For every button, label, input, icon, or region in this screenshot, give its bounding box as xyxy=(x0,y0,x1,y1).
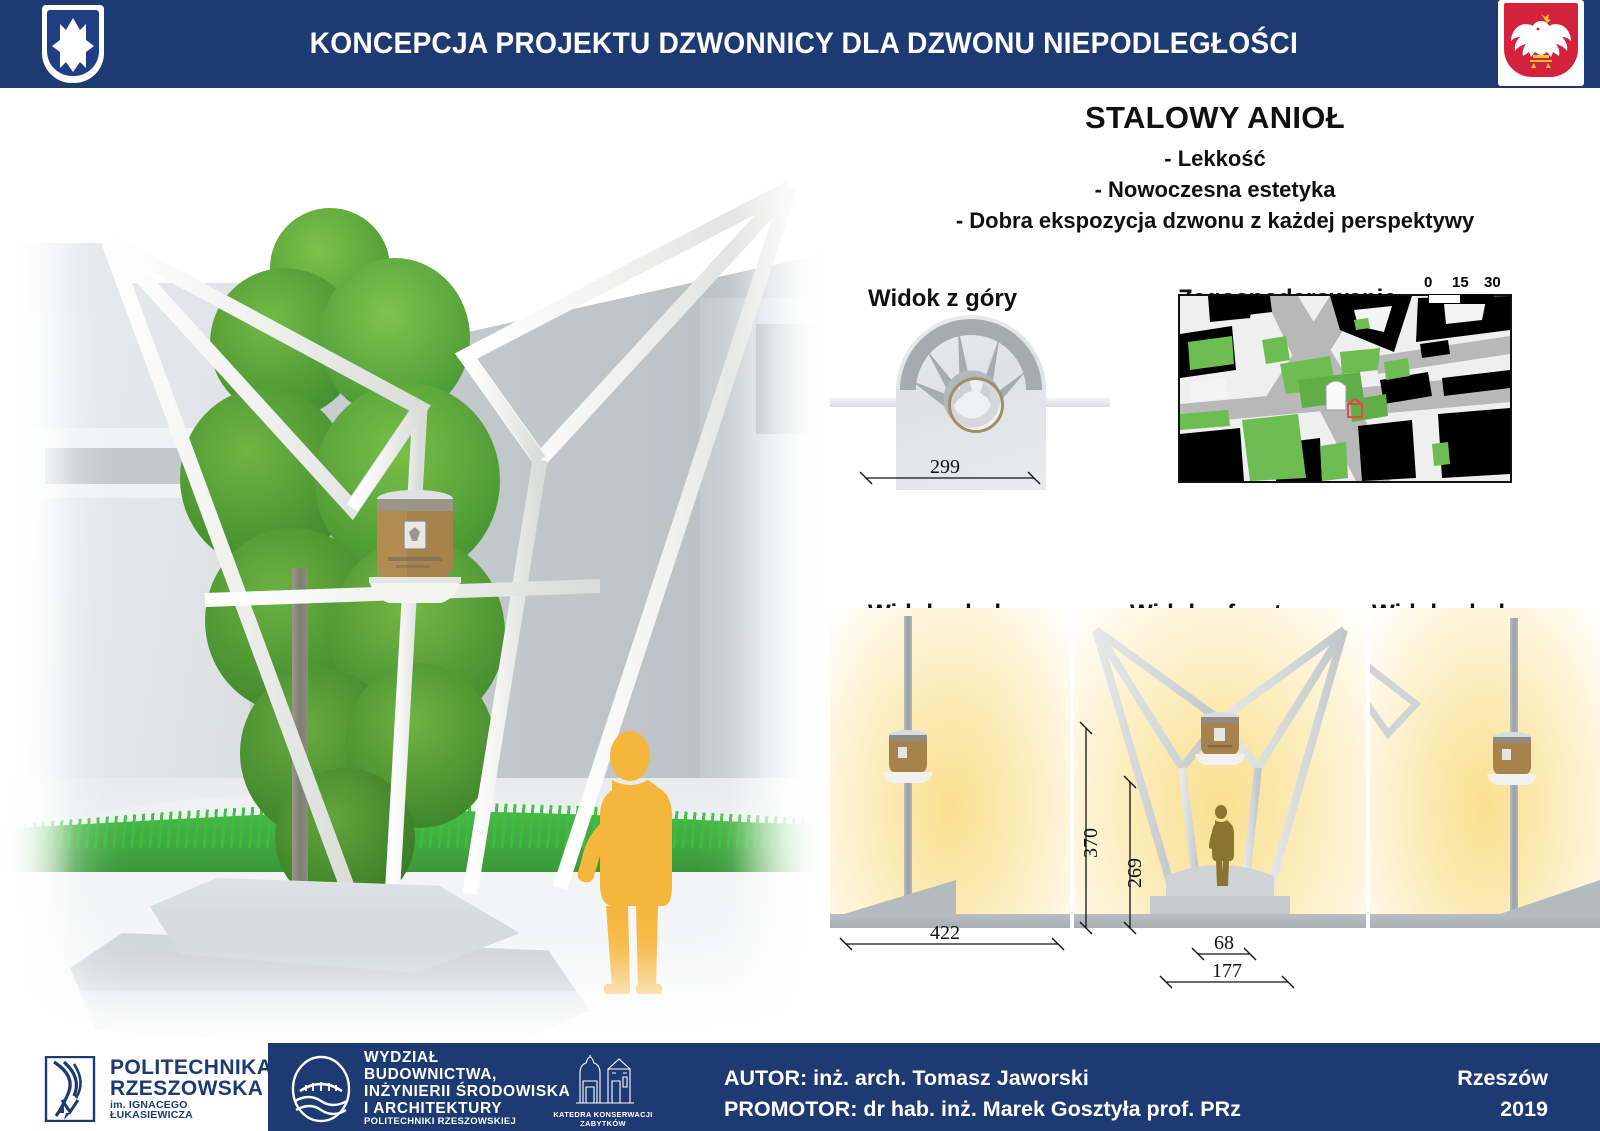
page-header: KONCEPCJA PROJEKTU DZWONNICY DLA DZWONU … xyxy=(0,0,1600,88)
city-text: Rzeszów xyxy=(1457,1063,1548,1094)
faculty-line-3: INŻYNIERII ŚRODOWISKA xyxy=(364,1084,570,1101)
department-line-1: KATEDRA KONSERWACJI xyxy=(548,1110,658,1119)
eagle-glyph-icon xyxy=(1504,3,1578,77)
scale-tick-0: 0 xyxy=(1424,274,1432,291)
main-3d-render xyxy=(0,88,830,1040)
concept-title: STALOWY ANIOŁ xyxy=(830,100,1600,136)
university-line-2: RZESZOWSKA xyxy=(110,1078,272,1099)
poster-body: STALOWY ANIOŁ - Lekkość - Nowoczesna est… xyxy=(0,88,1600,1043)
rzeszow-crest-icon xyxy=(42,3,104,85)
top-view-drawing xyxy=(870,293,1070,493)
university-logo: POLITECHNIKA RZESZOWSKA im. IGNACEGO ŁUK… xyxy=(44,1053,264,1125)
top-view-bell-ring xyxy=(948,377,1004,433)
faculty-emblem-icon xyxy=(290,1055,352,1123)
credits-block: AUTOR: inż. arch. Tomasz Jaworski PROMOT… xyxy=(724,1063,1241,1125)
dim-side-base-width: 422 xyxy=(930,922,960,945)
bell-side-left xyxy=(878,728,938,784)
year-text: 2019 xyxy=(1457,1094,1548,1125)
university-line-3: im. IGNACEGO ŁUKASIEWICZA xyxy=(110,1100,272,1121)
side-view-left-drawing xyxy=(830,608,1070,928)
faculty-line-1: WYDZIAŁ xyxy=(364,1050,570,1067)
dim-top-view-width: 299 xyxy=(930,456,960,479)
ground-line xyxy=(1370,914,1600,928)
cross-glyph-icon xyxy=(47,10,99,76)
department-logo: KATEDRA KONSERWACJI ZABYTKÓW xyxy=(548,1055,658,1125)
scale-figure-front xyxy=(1206,804,1236,888)
dim-plinth-width: 177 xyxy=(1212,960,1242,983)
scale-tick-30: 30 xyxy=(1484,274,1501,291)
independence-bell xyxy=(352,483,478,613)
bullet-item: - Lekkość xyxy=(830,143,1600,174)
page-footer: POLITECHNIKA RZESZOWSKA im. IGNACEGO ŁUK… xyxy=(0,1043,1600,1131)
base-ramp xyxy=(844,880,956,914)
bell-side-right xyxy=(1482,730,1542,786)
map-scale-bar: 0 15 30 xyxy=(1428,294,1508,304)
bell-front xyxy=(1190,710,1250,766)
dim-column-spacing: 68 xyxy=(1214,932,1234,955)
faculty-line-4: I ARCHITEKTURY xyxy=(364,1101,570,1118)
faculty-logo: WYDZIAŁ BUDOWNICTWA, INŻYNIERII ŚRODOWIS… xyxy=(290,1051,570,1127)
page-title: KONCEPCJA PROJEKTU DZWONNICY DLA DZWONU … xyxy=(146,27,1456,61)
scale-figure-person xyxy=(560,728,690,998)
side-view-right-drawing xyxy=(1370,608,1600,928)
author-text: AUTOR: inż. arch. Tomasz Jaworski xyxy=(724,1063,1241,1094)
front-view-drawing xyxy=(1074,608,1366,928)
department-line-2: ZABYTKÓW xyxy=(548,1119,658,1128)
university-line-1: POLITECHNIKA xyxy=(110,1057,272,1078)
prz-monogram-icon xyxy=(44,1056,100,1122)
faculty-line-2: BUDOWNICTWA, xyxy=(364,1067,570,1084)
ground-line xyxy=(1074,914,1366,928)
right-panel: STALOWY ANIOŁ - Lekkość - Nowoczesna est… xyxy=(830,88,1600,1040)
supervisor-text: PROMOTOR: dr hab. inż. Marek Gosztyła pr… xyxy=(724,1094,1241,1125)
concept-bullets: - Lekkość - Nowoczesna estetyka - Dobra … xyxy=(830,143,1600,236)
heritage-buildings-icon xyxy=(550,1055,656,1105)
bullet-item: - Nowoczesna estetyka xyxy=(830,174,1600,205)
poland-eagle-crest-icon xyxy=(1498,0,1584,88)
place-year-block: Rzeszów 2019 xyxy=(1457,1063,1548,1125)
dim-bell-height: 269 xyxy=(1124,858,1147,888)
site-plan-map xyxy=(1178,294,1512,483)
faculty-sub: POLITECHNIKI RZESZOWSKIEJ xyxy=(364,1117,570,1127)
map-graphic xyxy=(1180,296,1510,481)
dim-total-height: 370 xyxy=(1080,828,1103,858)
scale-tick-15: 15 xyxy=(1452,274,1469,291)
bullet-item: - Dobra ekspozycja dzwonu z każdej persp… xyxy=(830,205,1600,236)
